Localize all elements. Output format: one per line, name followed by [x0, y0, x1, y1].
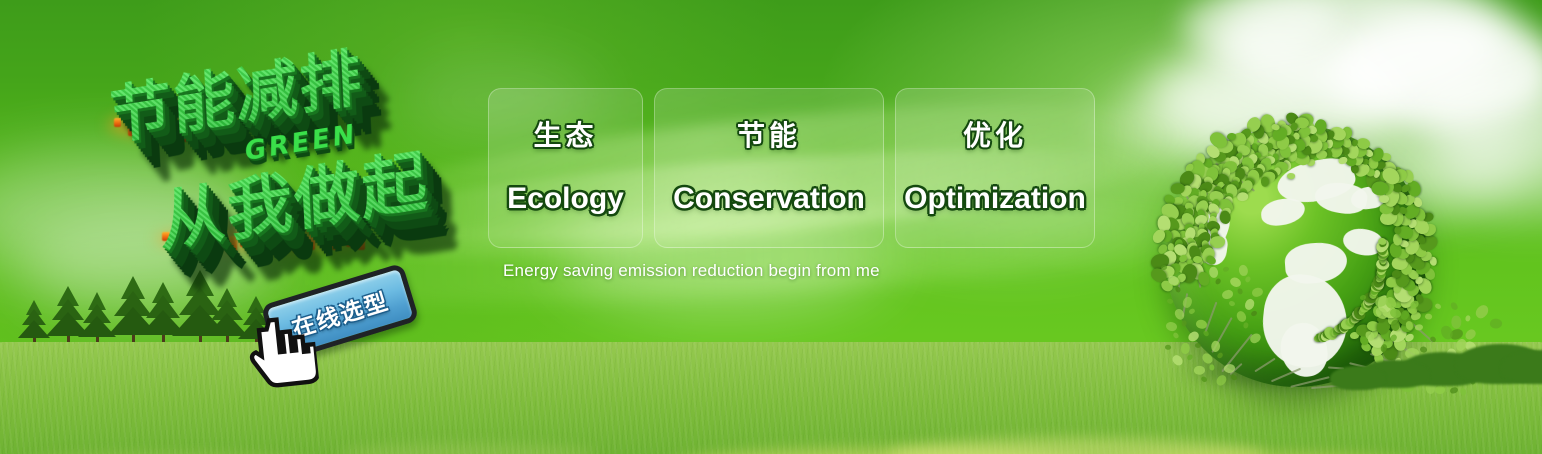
feature-card-optimization[interactable]: 优化 Optimization [895, 88, 1095, 248]
online-selection-button[interactable]: 在线选型 [260, 263, 419, 364]
feature-card-en-label: Optimization [904, 184, 1086, 214]
feature-card-cn-label: 优化 [963, 122, 1027, 150]
cloud-icon [1330, 10, 1542, 130]
headline-3d-artwork: 节能减排 GREEN 从我做起 [96, 36, 496, 276]
feature-card-cn-label: 节能 [737, 122, 801, 150]
cloud-icon [1180, 0, 1340, 60]
feature-card-en-label: Ecology [507, 184, 624, 214]
banner-tagline: Energy saving emission reduction begin f… [503, 261, 880, 281]
cta-group: 在线选型 [258, 277, 428, 377]
feature-card-list: 生态 Ecology 节能 Conservation 优化 Optimizati… [488, 88, 1095, 248]
feature-card-ecology[interactable]: 生态 Ecology [488, 88, 643, 248]
cloud-icon [1430, 130, 1542, 215]
feature-card-cn-label: 生态 [533, 122, 597, 150]
online-selection-label: 在线选型 [287, 282, 393, 344]
cloud-icon [1210, 0, 1510, 110]
eco-promo-banner: 节能减排 GREEN 从我做起 生态 Ecology 节能 Conservati… [0, 0, 1542, 454]
feature-card-conservation[interactable]: 节能 Conservation [654, 88, 884, 248]
feature-card-en-label: Conservation [673, 184, 865, 214]
globe-sphere [1165, 125, 1427, 387]
